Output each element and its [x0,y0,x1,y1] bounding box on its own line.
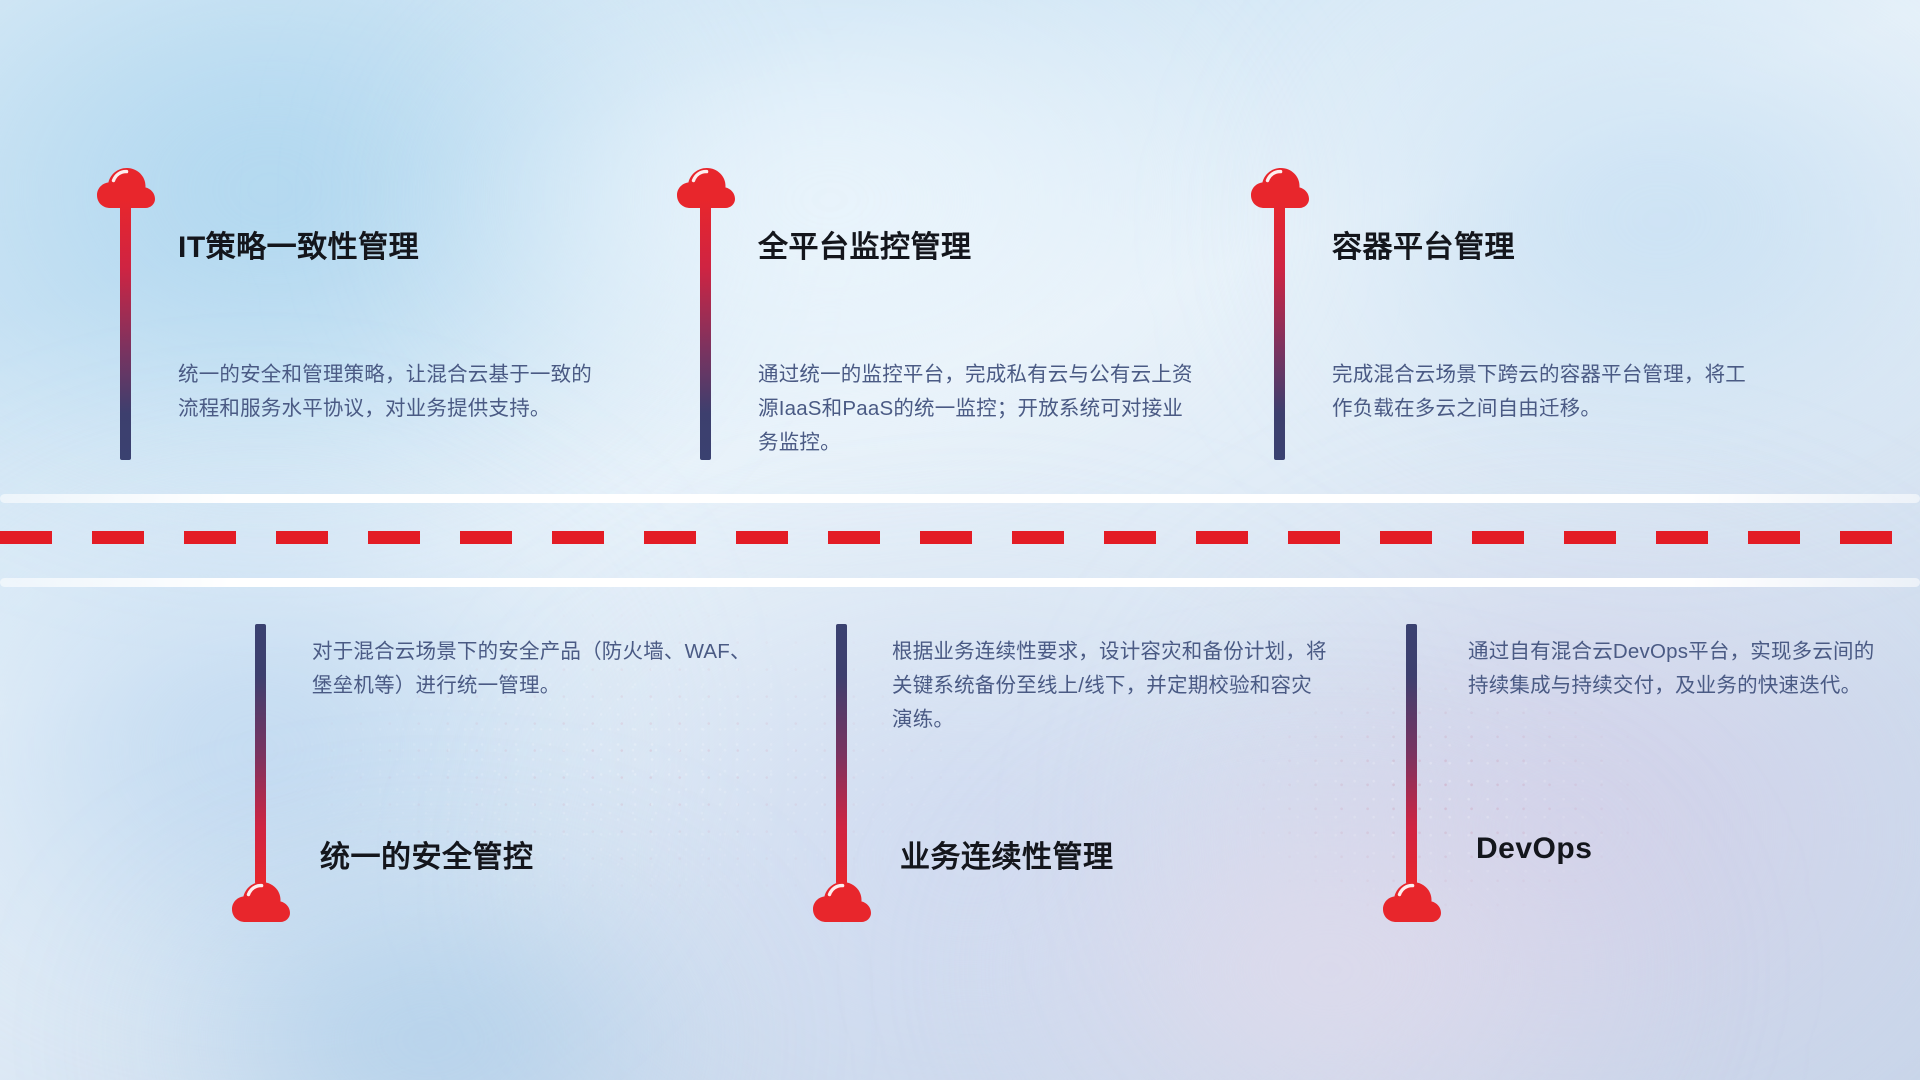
top-column-2: 全平台监控管理 通过统一的监控平台，完成私有云与公有云上资源IaaS和PaaS的… [640,0,1280,478]
top-column-1-body: 统一的安全和管理策略，让混合云基于一致的流程和服务水平协议，对业务提供支持。 [178,358,610,426]
bottom-column-3: 通过自有混合云DevOps平台，实现多云间的持续集成与持续交付，及业务的快速迭代… [1320,602,1920,1080]
red-dashed-divider [0,478,1920,602]
top-column-3-body: 完成混合云场景下跨云的容器平台管理，将工作负载在多云之间自由迁移。 [1332,358,1764,426]
bottom-column-1-title: 统一的安全管控 [320,832,534,876]
connector-line [1406,624,1417,884]
connector-line [120,200,131,460]
connector-line [836,624,847,884]
bottom-column-1-body: 对于混合云场景下的安全产品（防火墙、WAF、堡垒机等）进行统一管理。 [312,635,752,703]
bottom-column-3-title: DevOps [1476,832,1592,866]
cloud-icon [1382,877,1442,923]
divider-dash-line [0,531,1920,544]
bottom-column-2: 根据业务连续性要求，设计容灾和备份计划，将关键系统备份至线上/线下，并定期校验和… [700,602,1320,1080]
top-column-2-title: 全平台监控管理 [758,222,972,266]
top-column-1-title: IT策略一致性管理 [178,222,419,266]
bottom-row: 对于混合云场景下的安全产品（防火墙、WAF、堡垒机等）进行统一管理。 统一的安全… [0,602,1920,1080]
connector-line [700,200,711,460]
top-column-1: IT策略一致性管理 统一的安全和管理策略，让混合云基于一致的流程和服务水平协议，… [0,0,640,478]
divider-rule-top [0,494,1920,503]
connector-line [255,624,266,884]
bottom-column-2-body: 根据业务连续性要求，设计容灾和备份计划，将关键系统备份至线上/线下，并定期校验和… [892,635,1332,737]
cloud-icon [812,877,872,923]
cloud-icon [231,877,291,923]
top-column-3: 容器平台管理 完成混合云场景下跨云的容器平台管理，将工作负载在多云之间自由迁移。 [1210,0,1920,478]
bottom-column-3-body: 通过自有混合云DevOps平台，实现多云间的持续集成与持续交付，及业务的快速迭代… [1468,635,1888,703]
bottom-column-1: 对于混合云场景下的安全产品（防火墙、WAF、堡垒机等）进行统一管理。 统一的安全… [0,602,700,1080]
divider-rule-bottom [0,578,1920,587]
bottom-column-2-title: 业务连续性管理 [900,832,1114,876]
top-row: IT策略一致性管理 统一的安全和管理策略，让混合云基于一致的流程和服务水平协议，… [0,0,1920,478]
divider-dashes [0,526,1920,548]
top-column-2-body: 通过统一的监控平台，完成私有云与公有云上资源IaaS和PaaS的统一监控；开放系… [758,358,1198,460]
connector-line [1274,200,1285,460]
top-column-3-title: 容器平台管理 [1332,222,1515,266]
